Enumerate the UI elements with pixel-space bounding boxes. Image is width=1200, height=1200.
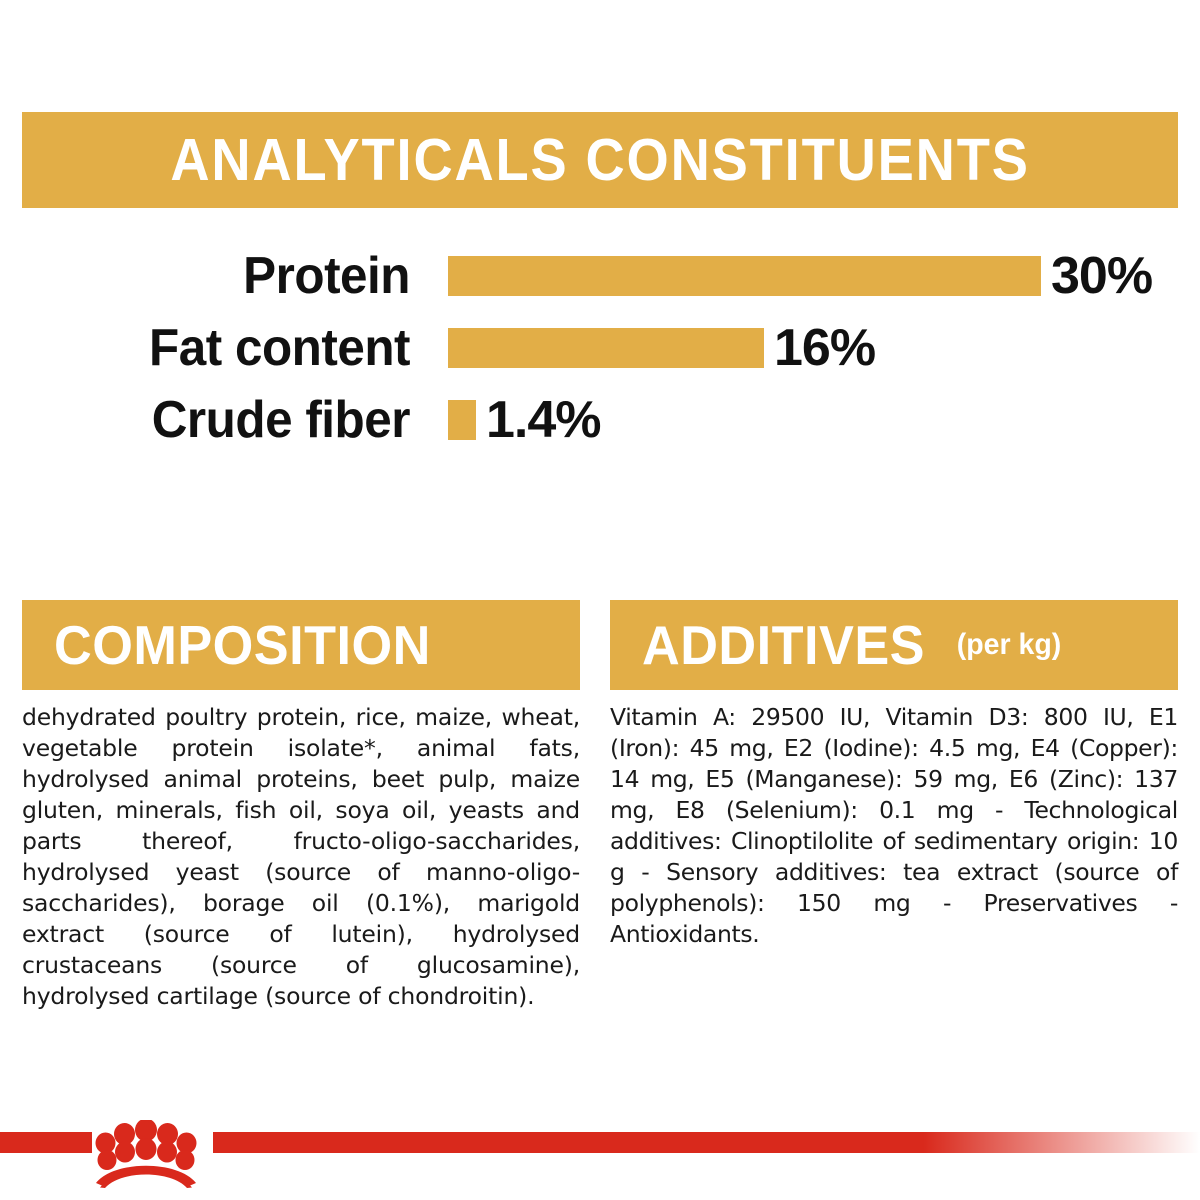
- additives-header: ADDITIVES (per kg): [610, 600, 1178, 690]
- chart-bar: [448, 328, 764, 368]
- chart-bar-group: 1.4%: [448, 394, 601, 446]
- chart-row: Fat content 16%: [0, 312, 1200, 384]
- chart-category-label: Fat content: [21, 322, 411, 374]
- chart-value-label: 1.4%: [486, 394, 601, 446]
- chart-bar-group: 16%: [448, 322, 875, 374]
- analytical-constituents-title: ANALYTICALS CONSTITUENTS: [170, 126, 1029, 194]
- analytical-constituents-header: ANALYTICALS CONSTITUENTS: [22, 112, 1178, 208]
- royal-canin-crown-icon: [86, 1120, 206, 1188]
- additives-text: Vitamin A: 29500 IU, Vitamin D3: 800 IU,…: [610, 702, 1178, 950]
- composition-title: COMPOSITION: [54, 613, 431, 677]
- chart-value-label: 16%: [774, 322, 875, 374]
- footer-rule-left: [0, 1132, 92, 1153]
- footer-rule-right: [213, 1132, 1200, 1153]
- chart-category-label: Crude fiber: [21, 394, 411, 446]
- chart-bar: [448, 400, 476, 440]
- chart-row: Crude fiber 1.4%: [0, 384, 1200, 456]
- additives-title: ADDITIVES: [642, 613, 925, 677]
- composition-panel: COMPOSITION dehydrated poultry protein, …: [0, 600, 600, 1012]
- chart-category-label: Protein: [21, 250, 411, 302]
- chart-bar-group: 30%: [448, 250, 1152, 302]
- analytical-constituents-chart: Protein 30% Fat content 16% Crude fiber …: [0, 240, 1200, 456]
- composition-header: COMPOSITION: [22, 600, 580, 690]
- additives-subtitle: (per kg): [957, 628, 1062, 662]
- chart-value-label: 30%: [1051, 250, 1152, 302]
- composition-text: dehydrated poultry protein, rice, maize,…: [22, 702, 580, 1012]
- additives-panel: ADDITIVES (per kg) Vitamin A: 29500 IU, …: [600, 600, 1200, 1012]
- chart-row: Protein 30%: [0, 240, 1200, 312]
- chart-bar: [448, 256, 1041, 296]
- info-panels: COMPOSITION dehydrated poultry protein, …: [0, 600, 1200, 1012]
- footer-brand-bar: [0, 1120, 1200, 1200]
